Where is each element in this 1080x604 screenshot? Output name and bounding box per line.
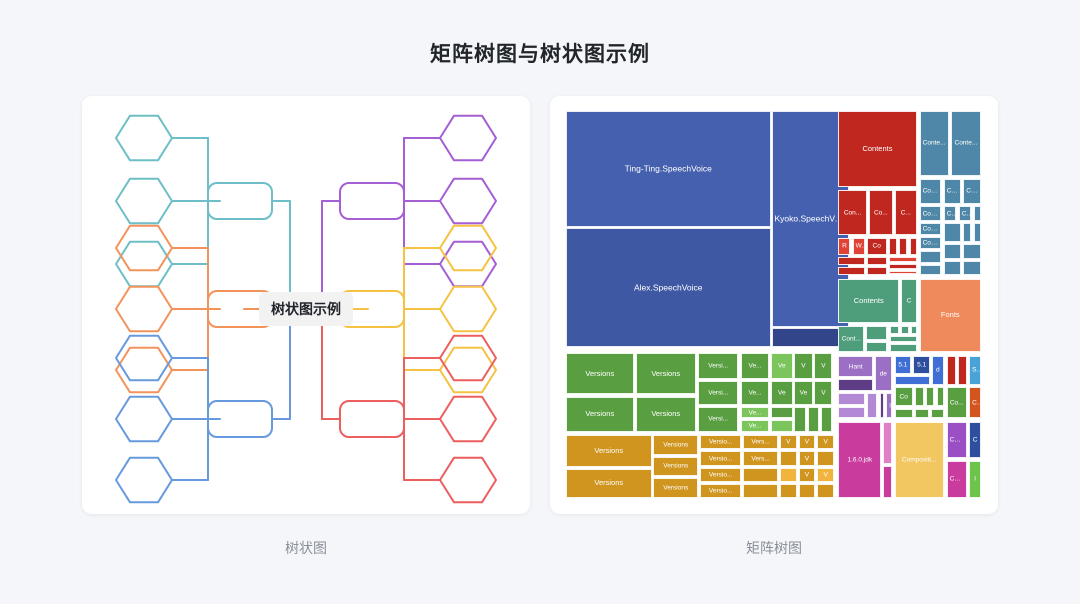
treemap-tile[interactable]: Sta [969,356,981,384]
treemap-tile-label: Vers... [744,455,777,462]
treemap-tile-label: Conte... [921,140,948,147]
treemap-tile[interactable]: Ve [794,381,812,404]
treemap-tile[interactable] [838,267,864,275]
treemap-tile[interactable] [915,387,924,406]
treemap-tile-label: l [887,402,891,409]
treemap-tile[interactable] [838,393,864,404]
treemap-tile[interactable] [944,244,961,259]
treemap-tile-label: V [818,438,833,445]
treemap-tile[interactable] [895,409,913,419]
treemap-tile-label: Versions [567,479,651,487]
treemap-tile[interactable]: V [799,435,816,450]
treemap-tile[interactable] [944,261,961,275]
treemap-tile[interactable] [958,356,967,384]
tree-leaf-node[interactable] [116,179,172,224]
treemap-tile[interactable]: de [875,356,891,391]
treemap-tile[interactable] [771,407,792,419]
treemap-tile[interactable] [808,407,819,432]
treemap-tile[interactable]: Co... [944,179,961,204]
treemap-tile[interactable]: Con... [947,422,967,457]
treemap-tile-label: Versions [637,369,695,377]
treemap-tile[interactable]: Ve... [741,420,770,432]
treemap-tile-label: Ve... [742,409,769,416]
treemap-tile-label: Compositi... [896,457,943,464]
treemap-tile[interactable]: V [780,435,797,450]
treemap-tile[interactable]: Hant [838,356,872,377]
treemap-tile[interactable] [889,271,917,275]
treemap-tile[interactable]: Versions [566,353,634,395]
treemap-tile-label: Con... [921,240,941,247]
treemap-tile[interactable] [889,238,897,254]
treemap-tile-label: 5.1 [914,361,928,368]
caption-tree: 树状图 [82,538,530,558]
treemap-tile[interactable]: V [794,353,812,380]
tree-leaf-node[interactable] [116,287,172,332]
treemap-tile-label: Versions [567,369,633,377]
treemap-tile[interactable] [780,484,797,498]
treemap-tile[interactable] [910,238,917,254]
tree-diagram-card: 树状图示例 [82,96,530,514]
treemap-tile[interactable] [817,451,834,466]
treemap-tile[interactable]: Co... [947,387,967,418]
treemap-tile[interactable] [926,387,935,406]
tree-leaf-node[interactable] [440,242,496,287]
treemap-tile-label: Ting-Ting.SpeechVoice [567,164,770,173]
treemap-tile-label: C [970,436,980,443]
treemap-tile[interactable]: Ve... [741,353,770,380]
treemap-tile-label: R [839,243,849,250]
treemap-tile-label: C... [896,209,915,216]
treemap-tile[interactable] [883,422,892,464]
treemap-tile[interactable]: Con... [920,179,942,204]
treemap-tile[interactable]: W [853,238,865,254]
treemap-tile-label: V [815,362,831,369]
treemap-tile[interactable] [911,326,917,334]
treemap-tile[interactable] [772,328,849,348]
treemap-tile-label: Alex.SpeechVoice [567,283,770,292]
treemap-tile[interactable]: V [817,468,834,483]
treemap-tile[interactable]: Versions [636,353,696,395]
treemap-tile[interactable]: Con... [920,206,942,221]
treemap-tile[interactable]: Versi... [698,353,739,380]
treemap-tile[interactable]: Alex.SpeechVoice [566,228,771,347]
treemap-tile[interactable] [974,223,981,241]
tree-leaf-node[interactable] [440,116,496,161]
treemap-tile[interactable]: Ve... [741,381,770,404]
treemap-tile-label: Con [964,188,980,195]
tree-leaf-node[interactable] [440,287,496,332]
treemap-tile-label: Versi... [699,362,738,369]
tree-leaf-node[interactable] [116,242,172,287]
treemap-tile[interactable]: Versio... [700,484,741,498]
treemap-tile-label: Sta [970,367,980,374]
treemap-tile[interactable] [867,257,887,265]
treemap-tile-label: Versions [567,447,651,455]
treemap-tile[interactable]: V [814,353,832,380]
treemap-tile[interactable]: Versions [653,457,698,477]
treemap-tile[interactable]: 1.6.0.jdk [838,422,881,498]
treemap-tile[interactable]: Ve [771,353,792,380]
treemap-tile[interactable] [867,267,887,275]
treemap-tile-label: Conte... [952,140,980,147]
treemap-tile[interactable]: Ting-Ting.SpeechVoice [566,111,771,227]
treemap-tile[interactable]: C [901,279,917,324]
tree-branch-node[interactable] [340,401,404,437]
treemap-container: Ting-Ting.SpeechVoiceAlex.SpeechVoiceKyo… [566,111,982,499]
treemap-tile[interactable]: Versions [636,397,696,432]
treemap-tile[interactable] [889,257,917,262]
treemap-tile[interactable]: Versio... [700,468,741,483]
treemap-tile[interactable] [743,484,778,498]
treemap-tile-label: Versi... [699,416,738,423]
treemap-tile-label: V [818,472,833,479]
treemap-tile-label: Con... [921,226,941,233]
treemap-tile[interactable]: V [799,451,816,466]
treemap-tile-label: Versio... [701,488,740,495]
treemap-tile[interactable]: Co [867,238,887,254]
treemap-tile[interactable] [963,261,981,275]
treemap-tile[interactable]: l [886,393,892,418]
treemap-tile[interactable]: Co [895,387,913,406]
treemap-tile[interactable] [890,326,899,334]
treemap-tile-label: Ve... [742,390,769,397]
treemap-tile[interactable]: 5.1 [895,356,911,374]
treemap-tile-label: V [815,390,831,397]
treemap-tile[interactable]: Conte... [920,111,949,176]
treemap-tile-label: Co [970,399,980,406]
treemap-tile-label: V [800,455,815,462]
tree-leaf-node[interactable] [440,458,496,503]
tree-leaf-node[interactable] [116,116,172,161]
treemap-tile-label: l [970,476,980,483]
treemap-tile[interactable] [817,484,834,498]
treemap-tile-label: V [800,472,815,479]
treemap-tile-label: Ve [795,390,811,397]
treemap-tile-label: Co [868,243,886,250]
treemap-tile[interactable]: Con... [838,190,866,236]
treemap-tile[interactable]: V [817,435,834,450]
treemap-tile[interactable] [915,409,929,419]
treemap-tile-label: Con... [921,210,941,217]
page-root: 矩阵树图与树状图示例 树状图示例 树状图 Ting-Ting.SpeechVoi… [0,0,1080,604]
treemap-tile[interactable] [963,244,981,259]
treemap-tile-label: Con... [948,476,966,483]
treemap-tile[interactable]: R [838,238,850,254]
treemap-tile[interactable] [743,468,778,483]
treemap-tile-label: Hant [839,363,871,370]
treemap-tile[interactable]: Con... [920,223,942,235]
treemap-tile-label: Ve [772,390,791,397]
treemap-tile[interactable] [895,376,930,385]
treemap-tile[interactable] [944,223,961,241]
treemap-tile[interactable] [920,251,942,263]
treemap-tile-label: Ve... [742,423,769,430]
treemap-tile-label: Co... [948,399,966,406]
treemap-tile-label: Fonts [921,311,980,319]
treemap-tile[interactable] [780,451,797,466]
treemap-tile-label: Ve [772,362,791,369]
treemap-tile[interactable] [883,466,892,498]
treemap-tile[interactable]: Fonts [920,279,981,352]
treemap-tile[interactable]: Versi... [698,407,739,432]
treemap-tile[interactable]: Versions [653,435,698,455]
treemap-tile[interactable] [889,264,917,268]
treemap-tile-label: Co... [870,209,892,216]
treemap-tile-label: Versions [654,484,697,491]
treemap-tile[interactable]: Co [969,387,981,418]
treemap-tile-label: Versions [567,410,633,418]
treemap-tile[interactable]: Conte... [951,111,981,176]
treemap-tile[interactable]: Vers... [743,451,778,466]
tree-leaf-node[interactable] [116,458,172,503]
treemap-tile[interactable] [937,387,944,406]
treemap-tile[interactable] [780,468,797,483]
treemap-tile[interactable]: Contents [838,111,916,187]
treemap-tile-label: Kyoko.SpeechVoi... [773,214,848,223]
treemap-tile[interactable]: Compositi... [895,422,944,498]
treemap-tile[interactable] [771,420,792,432]
treemap-tile-label: Contents [839,145,915,153]
treemap-tile-label: Co [945,210,956,217]
treemap-tile[interactable]: C... [895,190,916,236]
treemap-tile[interactable]: V [814,381,832,404]
tree-branch-node[interactable] [340,183,404,219]
treemap-tile-label: Con... [839,209,865,216]
treemap-tile[interactable] [963,223,971,241]
tree-root-node[interactable]: 树状图示例 [259,292,353,326]
treemap-tile-label: Versi... [699,390,738,397]
treemap-tile[interactable]: Versions [566,397,634,432]
tree-leaf-node[interactable] [440,179,496,224]
page-title: 矩阵树图与树状图示例 [0,38,1080,68]
treemap-tile-label: Versio... [701,472,740,479]
treemap-tile[interactable]: V [799,468,816,483]
treemap-tile[interactable] [799,484,816,498]
treemap-tile-label: Versions [654,441,697,448]
treemap-tile[interactable]: Con... [920,237,942,249]
treemap-tile[interactable]: Versio... [700,451,741,466]
treemap-tile-label: Co [896,393,912,400]
treemap-tile[interactable]: C [969,422,981,457]
treemap-tile[interactable]: Contents [838,279,899,324]
treemap-tile[interactable] [899,238,907,254]
treemap-tile[interactable]: d [932,356,943,384]
treemap-tile[interactable]: Ve... [741,407,770,419]
treemap-tile[interactable] [947,356,956,384]
treemap-tile[interactable]: Versio... [700,435,741,450]
treemap-tile[interactable] [838,407,864,418]
treemap-tile[interactable] [880,393,885,418]
treemap-tile[interactable] [920,265,942,274]
treemap-tile[interactable]: Vers... [743,435,778,450]
treemap-tile-label: de [876,370,890,377]
treemap-tile[interactable] [974,206,981,221]
treemap-tile[interactable]: Con... [947,461,967,498]
treemap-tile-label: Versio... [701,438,740,445]
treemap-tile[interactable]: l [969,461,981,498]
treemap-tile[interactable] [866,342,887,351]
treemap-tile[interactable] [867,393,878,418]
treemap-tile-label: Ve... [742,362,769,369]
tree-leaf-node[interactable] [116,397,172,442]
treemap-tile[interactable] [931,409,944,419]
treemap-tile-label: d [933,367,942,374]
tree-leaf-node[interactable] [440,226,496,271]
treemap-tile[interactable]: Versions [566,469,652,498]
tree-leaf-node[interactable] [116,226,172,271]
treemap-card: Ting-Ting.SpeechVoiceAlex.SpeechVoiceKyo… [550,96,998,514]
treemap-tile[interactable] [890,336,917,342]
treemap-tile[interactable] [901,326,909,334]
treemap-tile-label: 5.1 [896,361,910,368]
treemap-tile-label: V [795,362,811,369]
treemap-tile[interactable]: Cont... [838,326,864,352]
treemap-tile[interactable] [890,344,917,352]
caption-treemap: 矩阵树图 [550,538,998,558]
treemap-tile[interactable]: Co... [869,190,893,236]
treemap-tile-label: Contents [839,297,898,305]
treemap-tile[interactable] [866,326,887,341]
treemap-tile-label: Cont... [839,335,863,342]
treemap-tile[interactable]: Versions [566,435,652,467]
treemap-tile-label: W [854,243,864,250]
treemap-tile-label: Co... [945,188,960,195]
treemap-tile[interactable]: Ve [771,381,792,404]
treemap-tile-label: Versions [654,463,697,470]
treemap-tile-label: Versio... [701,455,740,462]
treemap-tile[interactable]: Versi... [698,381,739,404]
treemap-tile[interactable]: 5.1 [913,356,929,374]
treemap-tile[interactable]: Con [963,179,981,204]
treemap-tile[interactable]: Co [959,206,972,221]
treemap-tile-label: Con... [921,188,941,195]
treemap-tile[interactable]: Co [944,206,957,221]
tree-leaf-node[interactable] [440,397,496,442]
treemap-tile-label: Co [960,210,971,217]
treemap-tile[interactable]: Kyoko.SpeechVoi... [772,111,849,327]
treemap-tile[interactable] [821,407,832,432]
treemap-tile-label: Versions [637,410,695,418]
treemap-tile[interactable]: Versions [653,478,698,498]
treemap-tile-label: Vers... [744,438,777,445]
treemap-tile-label: Con... [948,436,966,443]
treemap-tile[interactable] [838,257,864,265]
treemap-tile-label: 1.6.0.jdk [839,457,880,464]
treemap-tile-label: V [781,438,796,445]
treemap-tile[interactable] [794,407,805,432]
treemap-tile[interactable] [838,379,872,391]
treemap-tile-label: V [800,438,815,445]
treemap-tile-label: C [902,297,916,304]
